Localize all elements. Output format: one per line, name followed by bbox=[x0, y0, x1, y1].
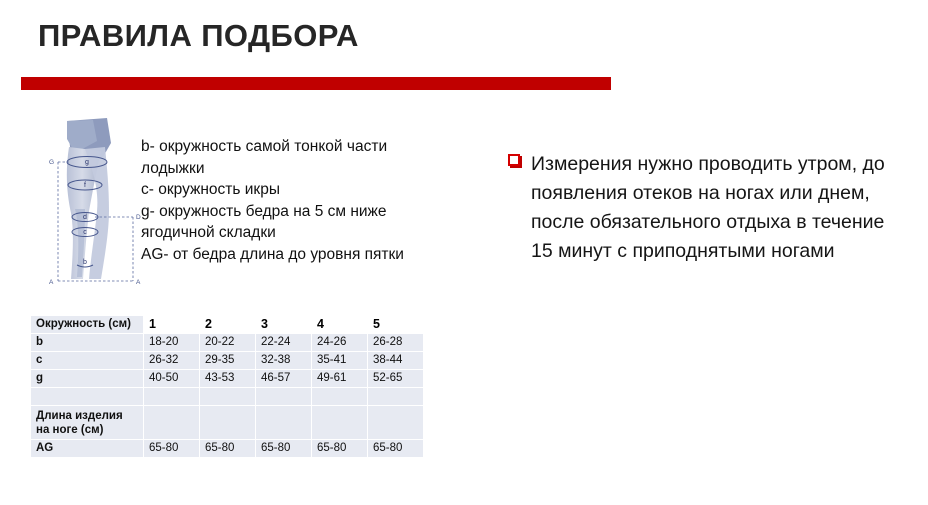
cell-g-4: 49-61 bbox=[312, 370, 367, 387]
legend-line-ag: AG- от бедра длина до уровня пятки bbox=[141, 244, 441, 266]
table-section-row: Длина изделия на ноге (см) bbox=[31, 406, 423, 439]
table-row: b 18-20 20-22 22-24 24-26 26-28 bbox=[31, 334, 423, 351]
row-label-b: b bbox=[31, 334, 143, 351]
cell-c-5: 38-44 bbox=[368, 352, 423, 369]
cell-g-2: 43-53 bbox=[200, 370, 255, 387]
legend-line-b: b- окружность самой тонкой части лодыжки bbox=[141, 136, 441, 179]
column-header-5: 5 bbox=[368, 316, 423, 333]
spacer-cell-2 bbox=[200, 388, 255, 405]
cell-b-5: 26-28 bbox=[368, 334, 423, 351]
red-square-bullet-icon bbox=[508, 154, 522, 168]
row-label-g: g bbox=[31, 370, 143, 387]
page-title: ПРАВИЛА ПОДБОРА bbox=[38, 18, 359, 54]
axis-label-A-left: A bbox=[49, 279, 54, 286]
cell-ag-1: 65-80 bbox=[144, 440, 199, 457]
column-header-2: 2 bbox=[200, 316, 255, 333]
cell-ag-4: 65-80 bbox=[312, 440, 367, 457]
section-label-length: Длина изделия на ноге (см) bbox=[31, 406, 143, 439]
spacer-cell-5 bbox=[368, 388, 423, 405]
label-f: f bbox=[84, 182, 86, 189]
legend-line-g: g- окружность бедра на 5 см ниже ягодичн… bbox=[141, 201, 441, 244]
cell-b-2: 20-22 bbox=[200, 334, 255, 351]
spacer-cell-4 bbox=[312, 388, 367, 405]
cell-c-3: 32-38 bbox=[256, 352, 311, 369]
column-header-3: 3 bbox=[256, 316, 311, 333]
axis-label-G: G bbox=[49, 159, 54, 166]
cell-c-2: 29-35 bbox=[200, 352, 255, 369]
cell-c-1: 26-32 bbox=[144, 352, 199, 369]
section-cell-4 bbox=[312, 406, 367, 439]
table-row: g 40-50 43-53 46-57 49-61 52-65 bbox=[31, 370, 423, 387]
cell-ag-3: 65-80 bbox=[256, 440, 311, 457]
spacer-label bbox=[31, 388, 143, 405]
section-cell-5 bbox=[368, 406, 423, 439]
callout-text: Измерения нужно проводить утром, до появ… bbox=[531, 150, 908, 266]
cell-c-4: 35-41 bbox=[312, 352, 367, 369]
label-d: d bbox=[83, 214, 87, 221]
spacer-cell-1 bbox=[144, 388, 199, 405]
table-header-label: Окружность (см) bbox=[31, 316, 143, 333]
row-label-c: c bbox=[31, 352, 143, 369]
title-underline-rule bbox=[21, 77, 611, 90]
measurement-legend: b- окружность самой тонкой части лодыжки… bbox=[141, 136, 441, 265]
table-spacer-row bbox=[31, 388, 423, 405]
measurement-advice-callout: Измерения нужно проводить утром, до появ… bbox=[508, 150, 908, 266]
cell-ag-2: 65-80 bbox=[200, 440, 255, 457]
column-header-1: 1 bbox=[144, 316, 199, 333]
section-cell-3 bbox=[256, 406, 311, 439]
cell-b-1: 18-20 bbox=[144, 334, 199, 351]
cell-g-3: 46-57 bbox=[256, 370, 311, 387]
section-cell-1 bbox=[144, 406, 199, 439]
spacer-cell-3 bbox=[256, 388, 311, 405]
cell-b-4: 24-26 bbox=[312, 334, 367, 351]
table-row: c 26-32 29-35 32-38 35-41 38-44 bbox=[31, 352, 423, 369]
section-cell-2 bbox=[200, 406, 255, 439]
column-header-4: 4 bbox=[312, 316, 367, 333]
label-c: c bbox=[83, 229, 87, 236]
label-g: g bbox=[85, 159, 89, 166]
cell-g-1: 40-50 bbox=[144, 370, 199, 387]
table-header-row: Окружность (см) 1 2 3 4 5 bbox=[31, 316, 423, 333]
axis-label-A-right: A bbox=[136, 279, 141, 286]
cell-b-3: 22-24 bbox=[256, 334, 311, 351]
table-row: AG 65-80 65-80 65-80 65-80 65-80 bbox=[31, 440, 423, 457]
label-b: b bbox=[83, 259, 87, 266]
cell-ag-5: 65-80 bbox=[368, 440, 423, 457]
cell-g-5: 52-65 bbox=[368, 370, 423, 387]
row-label-ag: AG bbox=[31, 440, 143, 457]
size-chart-table: Окружность (см) 1 2 3 4 5 b 18-20 20-22 … bbox=[30, 315, 424, 458]
legend-line-c: c- окружность икры bbox=[141, 179, 441, 201]
